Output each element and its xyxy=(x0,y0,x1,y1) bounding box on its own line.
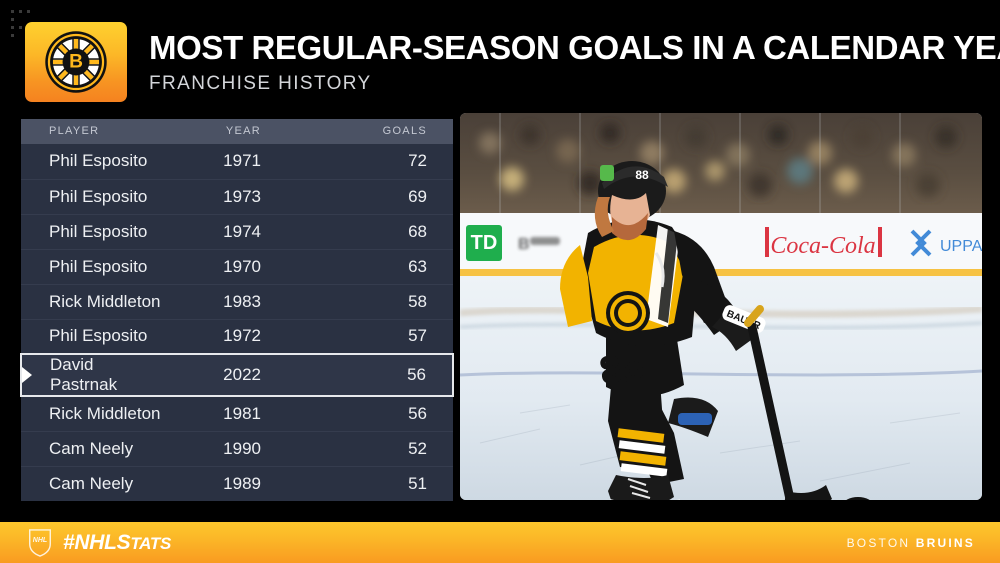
cell-player: Rick Middleton xyxy=(21,396,165,431)
cell-goals: 51 xyxy=(309,466,453,501)
table-row[interactable]: Rick Middleton198156 xyxy=(21,396,453,431)
svg-text:88: 88 xyxy=(596,343,647,394)
title-block: MOST REGULAR-SEASON GOALS IN A CALENDAR … xyxy=(149,29,1000,95)
cell-player: Phil Esposito xyxy=(21,214,165,249)
table-row[interactable]: Phil Esposito197063 xyxy=(21,249,453,284)
team-city-text: BOSTON xyxy=(847,536,911,550)
nhl-stats-branding[interactable]: NHL #NHLSTATS xyxy=(26,528,171,558)
table-header-row: PLAYER YEAR GOALS xyxy=(21,119,453,144)
svg-text:B: B xyxy=(69,52,83,73)
cell-player: Phil Esposito xyxy=(21,144,165,179)
cell-player: Cam Neely xyxy=(21,466,165,501)
bruins-logo-tile: B xyxy=(25,22,127,102)
nhl-stats-wordmark: #NHLSTATS xyxy=(63,531,171,555)
cell-player: Phil Esposito xyxy=(21,179,165,214)
table-row[interactable]: Rick Middleton198358 xyxy=(21,284,453,319)
stats-table-container: PLAYER YEAR GOALS Phil Esposito197172Phi… xyxy=(20,119,454,501)
stats-table: PLAYER YEAR GOALS Phil Esposito197172Phi… xyxy=(20,119,454,501)
page-subtitle: FRANCHISE HISTORY xyxy=(149,73,1000,95)
boston-bruins-spoked-b-logo-icon: B xyxy=(44,30,108,94)
svg-text:TD: TD xyxy=(471,232,498,254)
cell-goals: 63 xyxy=(309,249,453,284)
column-header-player[interactable]: PLAYER xyxy=(21,119,165,144)
svg-text:Coca-Cola: Coca-Cola xyxy=(770,233,875,259)
player-photo-image: TD B Coca-Cola UPPA xyxy=(460,113,982,500)
cell-year: 1990 xyxy=(165,431,309,466)
player-photo: TD B Coca-Cola UPPA xyxy=(460,113,982,500)
cell-year: 1973 xyxy=(165,179,309,214)
cell-goals: 69 xyxy=(309,179,453,214)
svg-text:UPPA: UPPA xyxy=(940,238,982,255)
cell-player: Rick Middleton xyxy=(21,284,165,319)
team-name-text: BRUINS xyxy=(916,536,975,550)
page-header: B MOST REGULAR-SEASON GOALS IN A CALENDA… xyxy=(25,22,1000,102)
team-name-footer: BOSTON BRUINS xyxy=(847,536,975,550)
cell-goals: 72 xyxy=(309,144,453,179)
cell-goals: 56 xyxy=(309,396,453,431)
cell-player: Phil Esposito xyxy=(21,249,165,284)
nhl-shield-logo-icon: NHL xyxy=(26,528,54,558)
svg-text:88: 88 xyxy=(635,168,649,182)
cell-goals: 68 xyxy=(309,214,453,249)
table-header: PLAYER YEAR GOALS xyxy=(21,119,453,144)
cell-player: Phil Esposito xyxy=(21,319,165,354)
page-footer: NHL #NHLSTATS BOSTON BRUINS xyxy=(0,522,1000,563)
column-header-year[interactable]: YEAR xyxy=(165,119,309,144)
cell-year: 2022 xyxy=(165,354,309,396)
column-header-goals[interactable]: GOALS xyxy=(309,119,453,144)
cell-goals: 57 xyxy=(309,319,453,354)
page-title: MOST REGULAR-SEASON GOALS IN A CALENDAR … xyxy=(149,31,1000,66)
stats-tats-text: TATS xyxy=(130,534,171,553)
cell-year: 1974 xyxy=(165,214,309,249)
table-row[interactable]: Phil Esposito197369 xyxy=(21,179,453,214)
table-row[interactable]: David Pastrnak202256 xyxy=(21,354,453,396)
cell-goals: 58 xyxy=(309,284,453,319)
table-row[interactable]: Cam Neely199052 xyxy=(21,431,453,466)
cell-player: Cam Neely xyxy=(21,431,165,466)
cell-goals: 56 xyxy=(309,354,453,396)
table-row[interactable]: Phil Esposito197468 xyxy=(21,214,453,249)
cell-year: 1983 xyxy=(165,284,309,319)
table-row[interactable]: Phil Esposito197172 xyxy=(21,144,453,179)
stats-s-text: S xyxy=(117,531,131,554)
table-row[interactable]: Cam Neely198951 xyxy=(21,466,453,501)
svg-text:B: B xyxy=(518,236,530,253)
cell-goals: 52 xyxy=(309,431,453,466)
svg-text:NHL: NHL xyxy=(33,537,47,544)
table-body: Phil Esposito197172Phil Esposito197369Ph… xyxy=(21,144,453,501)
hashtag-nhl-text: #NHL xyxy=(63,531,117,554)
cell-year: 1981 xyxy=(165,396,309,431)
table-row[interactable]: Phil Esposito197257 xyxy=(21,319,453,354)
cell-year: 1989 xyxy=(165,466,309,501)
cell-year: 1970 xyxy=(165,249,309,284)
cell-player: David Pastrnak xyxy=(21,354,165,396)
cell-year: 1971 xyxy=(165,144,309,179)
highlight-arrow-icon xyxy=(22,367,32,383)
cell-year: 1972 xyxy=(165,319,309,354)
